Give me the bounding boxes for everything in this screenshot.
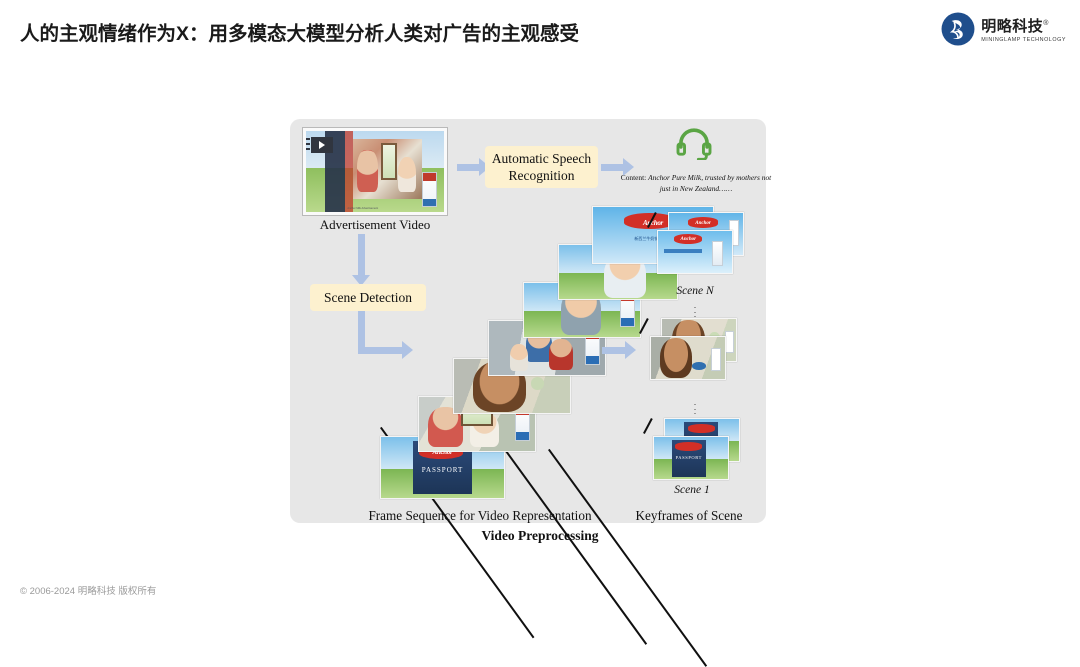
frame-sequence-stack: Anchor PASSPORT [370,200,620,512]
frame-person-3 [510,344,529,371]
film-sprocket [306,138,310,140]
video-person-child [398,157,416,192]
arrow-frames-to-keyframes-head [625,341,636,359]
video-window [381,143,398,180]
keyframe-card [650,336,726,380]
video-red-panel [345,131,353,212]
anchor-logo [675,442,702,451]
logo-text-block: 明略科技® MININGLAMP TECHNOLOGY [981,15,1066,44]
keyframe-bottle [712,241,723,266]
anchor-wordmark: Anchor [681,237,697,242]
film-sprocket [306,148,310,150]
mininglamp-circle-logo-icon [941,12,975,46]
keyframe-carton [711,348,721,372]
passport-text: PASSPORT [676,455,702,460]
keyframe-bar [664,249,702,252]
play-button-icon[interactable] [311,137,333,153]
page-title: 人的主观情绪作为X：用多模态大模型分析人类对广告的主观感受 [20,17,579,46]
registered-mark: ® [1043,20,1049,27]
milk-carton-top [423,173,436,182]
frame-sequence-label: Frame Sequence for Video Representation [300,508,660,524]
keyframe-group-label: Scene 1 [637,484,747,496]
child-face [660,338,693,378]
footer-copyright: © 2006-2024 明略科技 版权所有 [20,583,156,597]
keyframe-carton [725,331,734,354]
logo-cn-label: 明略科技 [981,18,1043,35]
asr-transcript: Content: Anchor Pure Milk, trusted by mo… [618,172,774,194]
keyframe-separator-dots: .... [693,400,697,418]
logo-chinese-name: 明略科技® [981,15,1066,35]
anchor-logo [688,424,715,433]
arrow-video-to-asr-shaft [457,164,479,171]
keyframe-card: Anchor [657,230,733,274]
arrow-asr-to-content-shaft [601,164,623,171]
asr-process-box[interactable]: Automatic Speech Recognition [485,146,598,188]
carton-bottom [621,318,634,327]
arrow-video-to-scene-shaft [358,234,365,276]
brand-logo: 明略科技® MININGLAMP TECHNOLOGY [941,12,1066,46]
arrow-scene-down-shaft [358,311,365,351]
logo-english-name: MININGLAMP TECHNOLOGY [981,36,1066,44]
keyframe-card: PASSPORT [653,436,729,480]
asr-label-line2: Recognition [492,167,591,184]
keyframe-group-label: Scene N [640,285,750,297]
asr-transcript-prefix: Content: [621,173,646,182]
play-triangle-icon [319,141,325,149]
film-sprocket [306,143,310,145]
keyframes-label: Keyframes of Scene [614,508,764,524]
carton-bottom [516,432,529,441]
asr-box-label: Automatic Speech Recognition [492,150,591,184]
frame-person-2 [549,339,572,369]
video-scene [353,139,422,199]
keyframe-badge [692,362,705,370]
arrow-frames-to-keyframes-shaft [602,347,625,354]
asr-transcript-text: Anchor Pure Milk, trusted by mothers not… [648,173,771,193]
video-person-adult [357,150,378,192]
anchor-wordmark: Anchor [695,221,711,226]
passport-text: PASSPORT [422,466,464,474]
figure-caption: Video Preprocessing [390,528,690,544]
page-header: 人的主观情绪作为X：用多模态大模型分析人类对广告的主观感受 明略科技® MINI… [0,0,1080,62]
headset-icon [676,128,712,160]
asr-label-line1: Automatic Speech [492,150,591,167]
carton-bottom [586,356,599,365]
